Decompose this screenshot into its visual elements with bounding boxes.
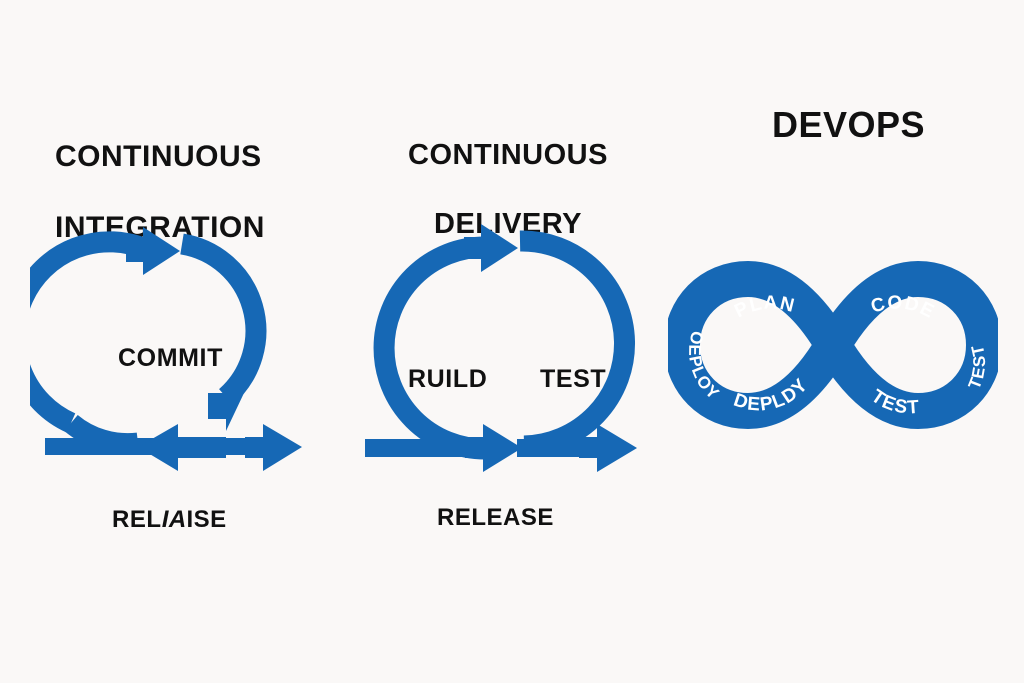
ci-node-label-commit: COMMIT	[118, 344, 223, 373]
continuous-delivery-diagram	[365, 215, 665, 485]
caption-part-1: REL	[112, 506, 162, 533]
cd-stage-caption: RELEASE	[437, 504, 554, 532]
cd-cycle-arrows	[384, 224, 624, 449]
title-line-1: CONTINUOUS	[398, 138, 618, 172]
cd-node-label-test: TEST	[540, 365, 606, 394]
cd-arrowhead-middle	[465, 424, 522, 472]
title-line-1: CONTINUOUS	[55, 139, 265, 174]
ci-arrowhead-middle-left	[138, 424, 226, 471]
cd-arc-right	[520, 241, 625, 446]
ci-arrowhead-right-end	[245, 424, 302, 471]
cd-release-arrow-bar	[365, 424, 637, 472]
caption-part-2: IA	[159, 506, 189, 534]
diagram-canvas: CONTINUOUS INTEGRATION COMMIT RELIAISE	[0, 0, 1024, 683]
cd-node-label-build: RUILD	[408, 365, 487, 394]
ci-arrowhead-top	[126, 227, 180, 275]
ci-stage-caption: RELIAISE	[112, 506, 227, 534]
devops-infinity-diagram: PLAN OEPLOY DEPLDY CODE TEST TEST	[668, 245, 998, 445]
cd-arc-left	[384, 247, 485, 449]
ci-arc-left	[30, 242, 148, 423]
panel-title-devops: DEVOPS	[772, 104, 925, 146]
cd-arrowhead-top	[464, 224, 518, 272]
ci-arc-right	[182, 244, 256, 397]
ci-arrowhead-lower-right	[208, 393, 244, 431]
infinity-loop-band	[682, 279, 984, 411]
ci-cycle-arrows	[30, 227, 256, 444]
caption-part-3: ISE	[187, 506, 227, 533]
